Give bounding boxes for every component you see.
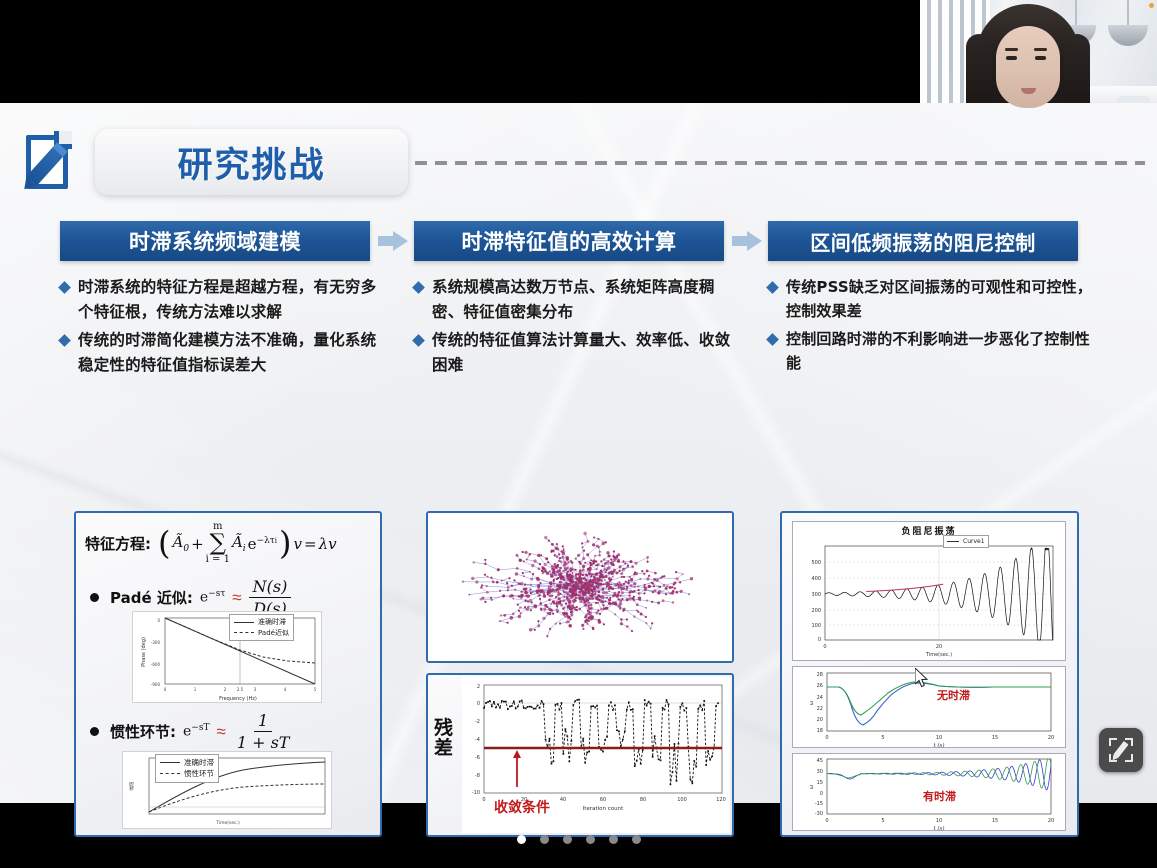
column-1-header: 时滞系统频域建模 [60, 221, 370, 261]
legend-entry: Padé近似 [258, 628, 289, 639]
svg-text:300: 300 [811, 592, 821, 598]
list-item: 传统的特征值算法计算量大、效率低、收敛困难 [414, 328, 744, 378]
svg-text:60: 60 [600, 797, 606, 803]
svg-text:-10: -10 [472, 790, 480, 796]
bullet-text: 传统PSS缺乏对区间振荡的可观性和可控性，控制效果差 [786, 275, 1098, 324]
inertia-link-row: 惯性环节: e−sT ≈ 1 1 + sT [76, 703, 293, 752]
inertia-numerator: 1 [254, 711, 272, 732]
with-delay-chart: 45 30 15 0 -15 -30 0 5 10 15 20 t (s) [792, 753, 1066, 831]
no-delay-annotation: 无时滞 [937, 687, 970, 703]
svg-text:Phase (deg): Phase (deg) [141, 637, 147, 667]
negative-damping-svg: 500 400 300 200 100 0 0 20 Time(sec.) [793, 522, 1067, 662]
eigenvalue-network-panel [426, 511, 734, 663]
svg-text:3: 3 [254, 687, 257, 692]
svg-text:45: 45 [817, 758, 823, 764]
diamond-bullet-icon [766, 333, 779, 346]
pade-lhs: e−sτ [200, 589, 225, 606]
document-pencil-icon [22, 131, 84, 193]
inertia-lhs: e−sT [183, 723, 209, 740]
sum-lower-limit: i = 1 [206, 555, 230, 565]
svg-text:0: 0 [157, 618, 160, 623]
svg-text:20: 20 [936, 644, 942, 650]
column-1: 时滞系统频域建模 时滞系统的特征方程是超越方程，有无穷多个特征根，传统方法难以求… [60, 221, 412, 381]
svg-text:0: 0 [477, 701, 480, 707]
svg-text:-4: -4 [475, 737, 480, 743]
recording-indicator [1149, 3, 1154, 8]
no-delay-svg: 28 26 24 22 20 18 0 5 10 15 20 t (s) [793, 667, 1067, 749]
svg-text:0: 0 [825, 735, 828, 741]
phase-frequency-svg: 0 -300 -600 -900 0 1 2 2.5 3 4 5 Frequen… [133, 612, 323, 704]
chart2-legend: 准确时滞 惯性环节 [155, 754, 219, 783]
svg-text:-15: -15 [815, 801, 823, 807]
negative-damping-chart: 负阻尼振荡 Curve1 500 [792, 521, 1066, 661]
svg-text:Time(sec.): Time(sec.) [215, 820, 240, 826]
mouse-cursor [915, 668, 929, 688]
legend-entry: 准确时滞 [184, 757, 214, 768]
svg-text:Frequency (Hz): Frequency (Hz) [219, 696, 257, 702]
eigenvalue-network-svg [428, 513, 732, 661]
column-3: 区间低频振荡的阻尼控制 传统PSS缺乏对区间振荡的可观性和可控性，控制效果差 控… [768, 221, 1120, 378]
phase-frequency-chart: 0 -300 -600 -900 0 1 2 2.5 3 4 5 Frequen… [132, 611, 322, 703]
svg-text:400: 400 [811, 576, 821, 582]
round-bullet-icon [90, 593, 99, 602]
presenter-eye-right [1035, 56, 1046, 60]
column-2-header-label: 时滞特征值的高效计算 [462, 226, 677, 256]
diamond-bullet-icon [58, 281, 71, 294]
svg-text:-300: -300 [151, 640, 161, 645]
page-dot-2[interactable] [540, 835, 549, 844]
annotate-pen-icon [1109, 738, 1133, 762]
inertia-denominator: 1 + sT [233, 732, 294, 752]
svg-text:24: 24 [817, 695, 823, 701]
column-2-header: 时滞特征值的高效计算 [414, 221, 724, 261]
svg-text:20: 20 [1048, 818, 1054, 824]
svg-text:幅值: 幅值 [128, 781, 135, 790]
presentation-slide: 研究挑战 时滞系统频域建模 时滞系统的特征方程是超越方程，有无穷多个特征根，传统… [0, 103, 1157, 803]
lamp-rod [1075, 0, 1077, 26]
column-1-header-label: 时滞系统频域建模 [129, 226, 301, 256]
page-dot-5[interactable] [609, 835, 618, 844]
inertia-label: 惯性环节: [110, 721, 176, 742]
residual-side-label: 残差 [434, 719, 454, 759]
diamond-bullet-icon [412, 334, 425, 347]
svg-text:Iteration count: Iteration count [583, 806, 624, 812]
convergence-condition-text: 收敛条件 [494, 800, 550, 816]
columns-container: 时滞系统频域建模 时滞系统的特征方程是超越方程，有无穷多个特征根，传统方法难以求… [0, 221, 1157, 791]
column-3-figure-panel: 负阻尼振荡 Curve1 500 [780, 511, 1079, 837]
svg-text:-900: -900 [151, 682, 161, 687]
list-item: 传统PSS缺乏对区间振荡的可观性和可控性，控制效果差 [768, 275, 1098, 324]
svg-text:100: 100 [677, 797, 687, 803]
bullet-text: 系统规模高达数万节点、系统矩阵高度稠密、特征值密集分布 [432, 275, 744, 325]
with-delay-annotation: 有时滞 [923, 788, 956, 804]
legend-entry: 准确时滞 [258, 617, 286, 628]
svg-text:20: 20 [817, 717, 823, 723]
svg-text:2.5: 2.5 [237, 687, 244, 692]
pade-label: Padé 近似: [110, 587, 193, 608]
page-title: 研究挑战 [177, 137, 325, 188]
diamond-bullet-icon [412, 281, 425, 294]
svg-text:-6: -6 [475, 755, 480, 761]
svg-text:20: 20 [1048, 735, 1054, 741]
svg-text:30: 30 [817, 769, 823, 775]
characteristic-equation: ( Ã0 + m ∑ i = 1 Ãi e−λτi ) v=λv [158, 522, 337, 565]
svg-text:5: 5 [881, 735, 884, 741]
characteristic-equation-row: 特征方程: ( Ã0 + m ∑ i = 1 Ãi e−λτi [76, 513, 380, 565]
svg-text:-600: -600 [151, 662, 161, 667]
diamond-bullet-icon [766, 281, 779, 294]
residual-convergence-panel: 残差 2 0 -2 -4 -6 -8 -10 0 20 40 [426, 673, 734, 837]
svg-text:40: 40 [560, 797, 566, 803]
svg-text:5: 5 [881, 818, 884, 824]
svg-text:t (s): t (s) [933, 742, 944, 749]
svg-text:0: 0 [818, 637, 821, 643]
title-dashed-rule [415, 161, 1145, 165]
svg-text:200: 200 [811, 608, 821, 614]
svg-text:10: 10 [936, 818, 942, 824]
slide-title-pill: 研究挑战 [95, 129, 408, 195]
residual-label-text: 残差 [434, 717, 453, 759]
list-item: 系统规模高达数万节点、系统矩阵高度稠密、特征值密集分布 [414, 275, 744, 325]
approx-symbol: ≈ [232, 588, 241, 608]
svg-text:10: 10 [936, 735, 942, 741]
column-3-header: 区间低频振荡的阻尼控制 [768, 221, 1078, 261]
bullet-text: 传统的特征值算法计算量大、效率低、收敛困难 [432, 328, 744, 378]
svg-text:-30: -30 [815, 811, 823, 817]
presenter-eye-left [1006, 56, 1017, 60]
equation-label: 特征方程: [85, 533, 151, 554]
legend-entry: Curve1 [963, 537, 985, 546]
list-item: 传统的时滞简化建模方法不准确，量化系统稳定性的特征值指标误差大 [60, 328, 390, 378]
column-1-figure-panel: 特征方程: ( Ã0 + m ∑ i = 1 Ãi e−λτi [74, 511, 382, 837]
screen-root: 牟倩颖–山东大学 研究挑战 时滞系统频域建模 [0, 0, 1157, 868]
diamond-bullet-icon [58, 334, 71, 347]
svg-text:2: 2 [477, 684, 480, 690]
chart1-legend: 准确时滞 Padé近似 [229, 614, 294, 641]
svg-text:-8: -8 [475, 773, 480, 779]
svg-text:ω: ω [809, 701, 815, 705]
no-delay-chart: 28 26 24 22 20 18 0 5 10 15 20 t (s) [792, 666, 1066, 748]
svg-text:18: 18 [817, 728, 823, 734]
svg-text:2: 2 [224, 687, 227, 692]
svg-text:15: 15 [817, 780, 823, 786]
column-3-bullets: 传统PSS缺乏对区间振荡的可观性和可控性，控制效果差 控制回路时滞的不利影响进一… [768, 275, 1098, 375]
list-item: 控制回路时滞的不利影响进一步恶化了控制性能 [768, 327, 1098, 376]
svg-text:5: 5 [314, 687, 317, 692]
bullet-text: 传统的时滞简化建模方法不准确，量化系统稳定性的特征值指标误差大 [78, 328, 390, 378]
svg-text:0: 0 [164, 687, 167, 692]
page-dot-3[interactable] [563, 835, 572, 844]
presenter-brow-left [1005, 48, 1018, 51]
svg-text:0: 0 [820, 791, 823, 797]
approx-symbol: ≈ [216, 722, 225, 742]
annotate-button[interactable] [1099, 728, 1143, 772]
legend-entry: 惯性环节 [184, 768, 214, 779]
list-item: 时滞系统的特征方程是超越方程，有无穷多个特征根，传统方法难以求解 [60, 275, 390, 325]
svg-text:15: 15 [992, 818, 998, 824]
svg-text:26: 26 [817, 683, 823, 689]
pade-numerator: N(s) [249, 577, 292, 598]
svg-text:15: 15 [992, 735, 998, 741]
svg-text:22: 22 [817, 706, 823, 712]
negative-damping-legend: Curve1 [943, 535, 989, 548]
page-dot-1[interactable] [517, 835, 526, 844]
column-3-header-label: 区间低频振荡的阻尼控制 [810, 227, 1036, 256]
page-indicator-dots[interactable] [0, 835, 1157, 844]
svg-text:80: 80 [640, 797, 646, 803]
bullet-text: 时滞系统的特征方程是超越方程，有无穷多个特征根，传统方法难以求解 [78, 275, 390, 325]
svg-text:-2: -2 [475, 719, 480, 725]
presenter-brow-right [1034, 48, 1047, 51]
svg-text:100: 100 [811, 623, 821, 629]
svg-text:28: 28 [817, 672, 823, 678]
page-dot-4[interactable] [586, 835, 595, 844]
convergence-condition-label: 收敛条件 [494, 797, 550, 817]
svg-text:120: 120 [716, 797, 726, 803]
presenter-face [996, 26, 1060, 108]
svg-text:t (s): t (s) [933, 825, 944, 832]
no-delay-annotation-text: 无时滞 [937, 689, 970, 702]
svg-text:Time(sec.): Time(sec.) [925, 652, 952, 658]
svg-text:500: 500 [811, 560, 821, 566]
svg-text:ω: ω [809, 785, 815, 789]
svg-text:0: 0 [825, 818, 828, 824]
column-2-bullets: 系统规模高达数万节点、系统矩阵高度稠密、特征值密集分布 传统的特征值算法计算量大… [414, 275, 744, 378]
svg-text:0: 0 [482, 797, 485, 803]
lamp-rod [1127, 0, 1129, 26]
with-delay-annotation-text: 有时滞 [923, 790, 956, 803]
bullet-text: 控制回路时滞的不利影响进一步恶化了控制性能 [786, 327, 1098, 376]
svg-text:1: 1 [194, 687, 197, 692]
svg-text:0: 0 [823, 644, 826, 650]
inertia-fraction: 1 1 + sT [233, 711, 294, 752]
page-dot-6[interactable] [632, 835, 641, 844]
column-1-bullets: 时滞系统的特征方程是超越方程，有无穷多个特征根，传统方法难以求解 传统的时滞简化… [60, 275, 390, 378]
column-2: 时滞特征值的高效计算 系统规模高达数万节点、系统矩阵高度稠密、特征值密集分布 传… [414, 221, 766, 381]
svg-text:4: 4 [284, 687, 287, 692]
inertia-step-chart: Time(sec.) 幅值 准确时滞 惯性环节 [122, 751, 332, 829]
round-bullet-icon [90, 727, 99, 736]
negative-damping-title: 负阻尼振荡 [793, 524, 1065, 537]
